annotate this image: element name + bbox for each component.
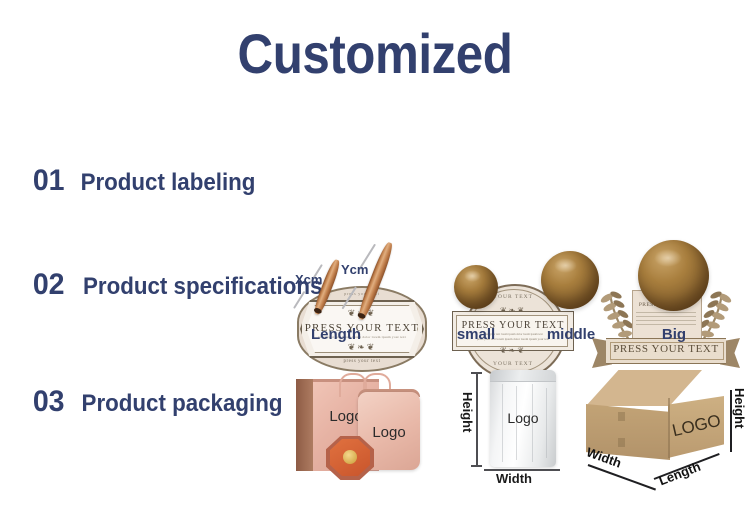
packaging-carton-group: LOGO Height Width Length <box>580 366 748 484</box>
sack-height-tick-top <box>471 372 482 374</box>
row-label-03: 03 Product packaging <box>32 385 290 419</box>
sack-logo-text: Logo <box>490 410 556 426</box>
gift-box-logo-text: Logo <box>358 424 420 441</box>
packaging-gift-bag-group: Logo Logo <box>296 370 422 480</box>
row-title-03: Product packaging <box>82 390 283 418</box>
gift-bag-side-panel <box>296 379 314 471</box>
product-ball-middle <box>541 251 599 309</box>
row-label-02: 02 Product specifications <box>32 268 332 302</box>
section-product-labeling: 01 Product labeling press your text ❦❧❦ … <box>0 140 750 245</box>
carton-vertical-seam <box>668 398 670 458</box>
caption-big: Big <box>646 326 702 343</box>
sack-height-line <box>476 372 478 467</box>
row-number-02: 02 <box>33 268 65 302</box>
product-ball-small <box>454 265 498 309</box>
carton-flap-mark <box>618 412 625 421</box>
row-label-01: 01 Product labeling <box>32 164 262 198</box>
sack-height-tick-bottom <box>471 465 482 467</box>
row-number-03: 03 <box>33 385 65 419</box>
carton-flap-mark <box>618 438 625 447</box>
dimension-label-y: Ycm <box>341 262 368 277</box>
packaging-woven-sack-group: Logo Height Width <box>462 366 574 484</box>
carton-length-label: Length <box>657 459 703 489</box>
row-number-01: 01 <box>33 164 65 198</box>
octagon-box-emblem-icon <box>343 450 357 464</box>
section-product-specifications: 02 Product specifications <box>0 240 750 355</box>
carton-top-face <box>586 370 702 406</box>
page-title: Customized <box>45 26 705 82</box>
sack-width-label: Width <box>496 471 532 486</box>
row-title-02: Product specifications <box>83 273 322 301</box>
dimension-label-x: Xcm <box>295 272 322 287</box>
product-ball-big <box>638 240 709 311</box>
row-title-01: Product labeling <box>81 169 256 197</box>
page-root: Customized 01 Product labeling press you… <box>0 0 750 512</box>
caption-length: Length <box>300 326 372 343</box>
sack-top-seam <box>490 370 556 382</box>
caption-middle: middle <box>533 326 609 343</box>
carton-height-label: Height <box>732 388 747 428</box>
sack-height-label: Height <box>460 392 475 432</box>
caption-small: small <box>440 326 512 343</box>
